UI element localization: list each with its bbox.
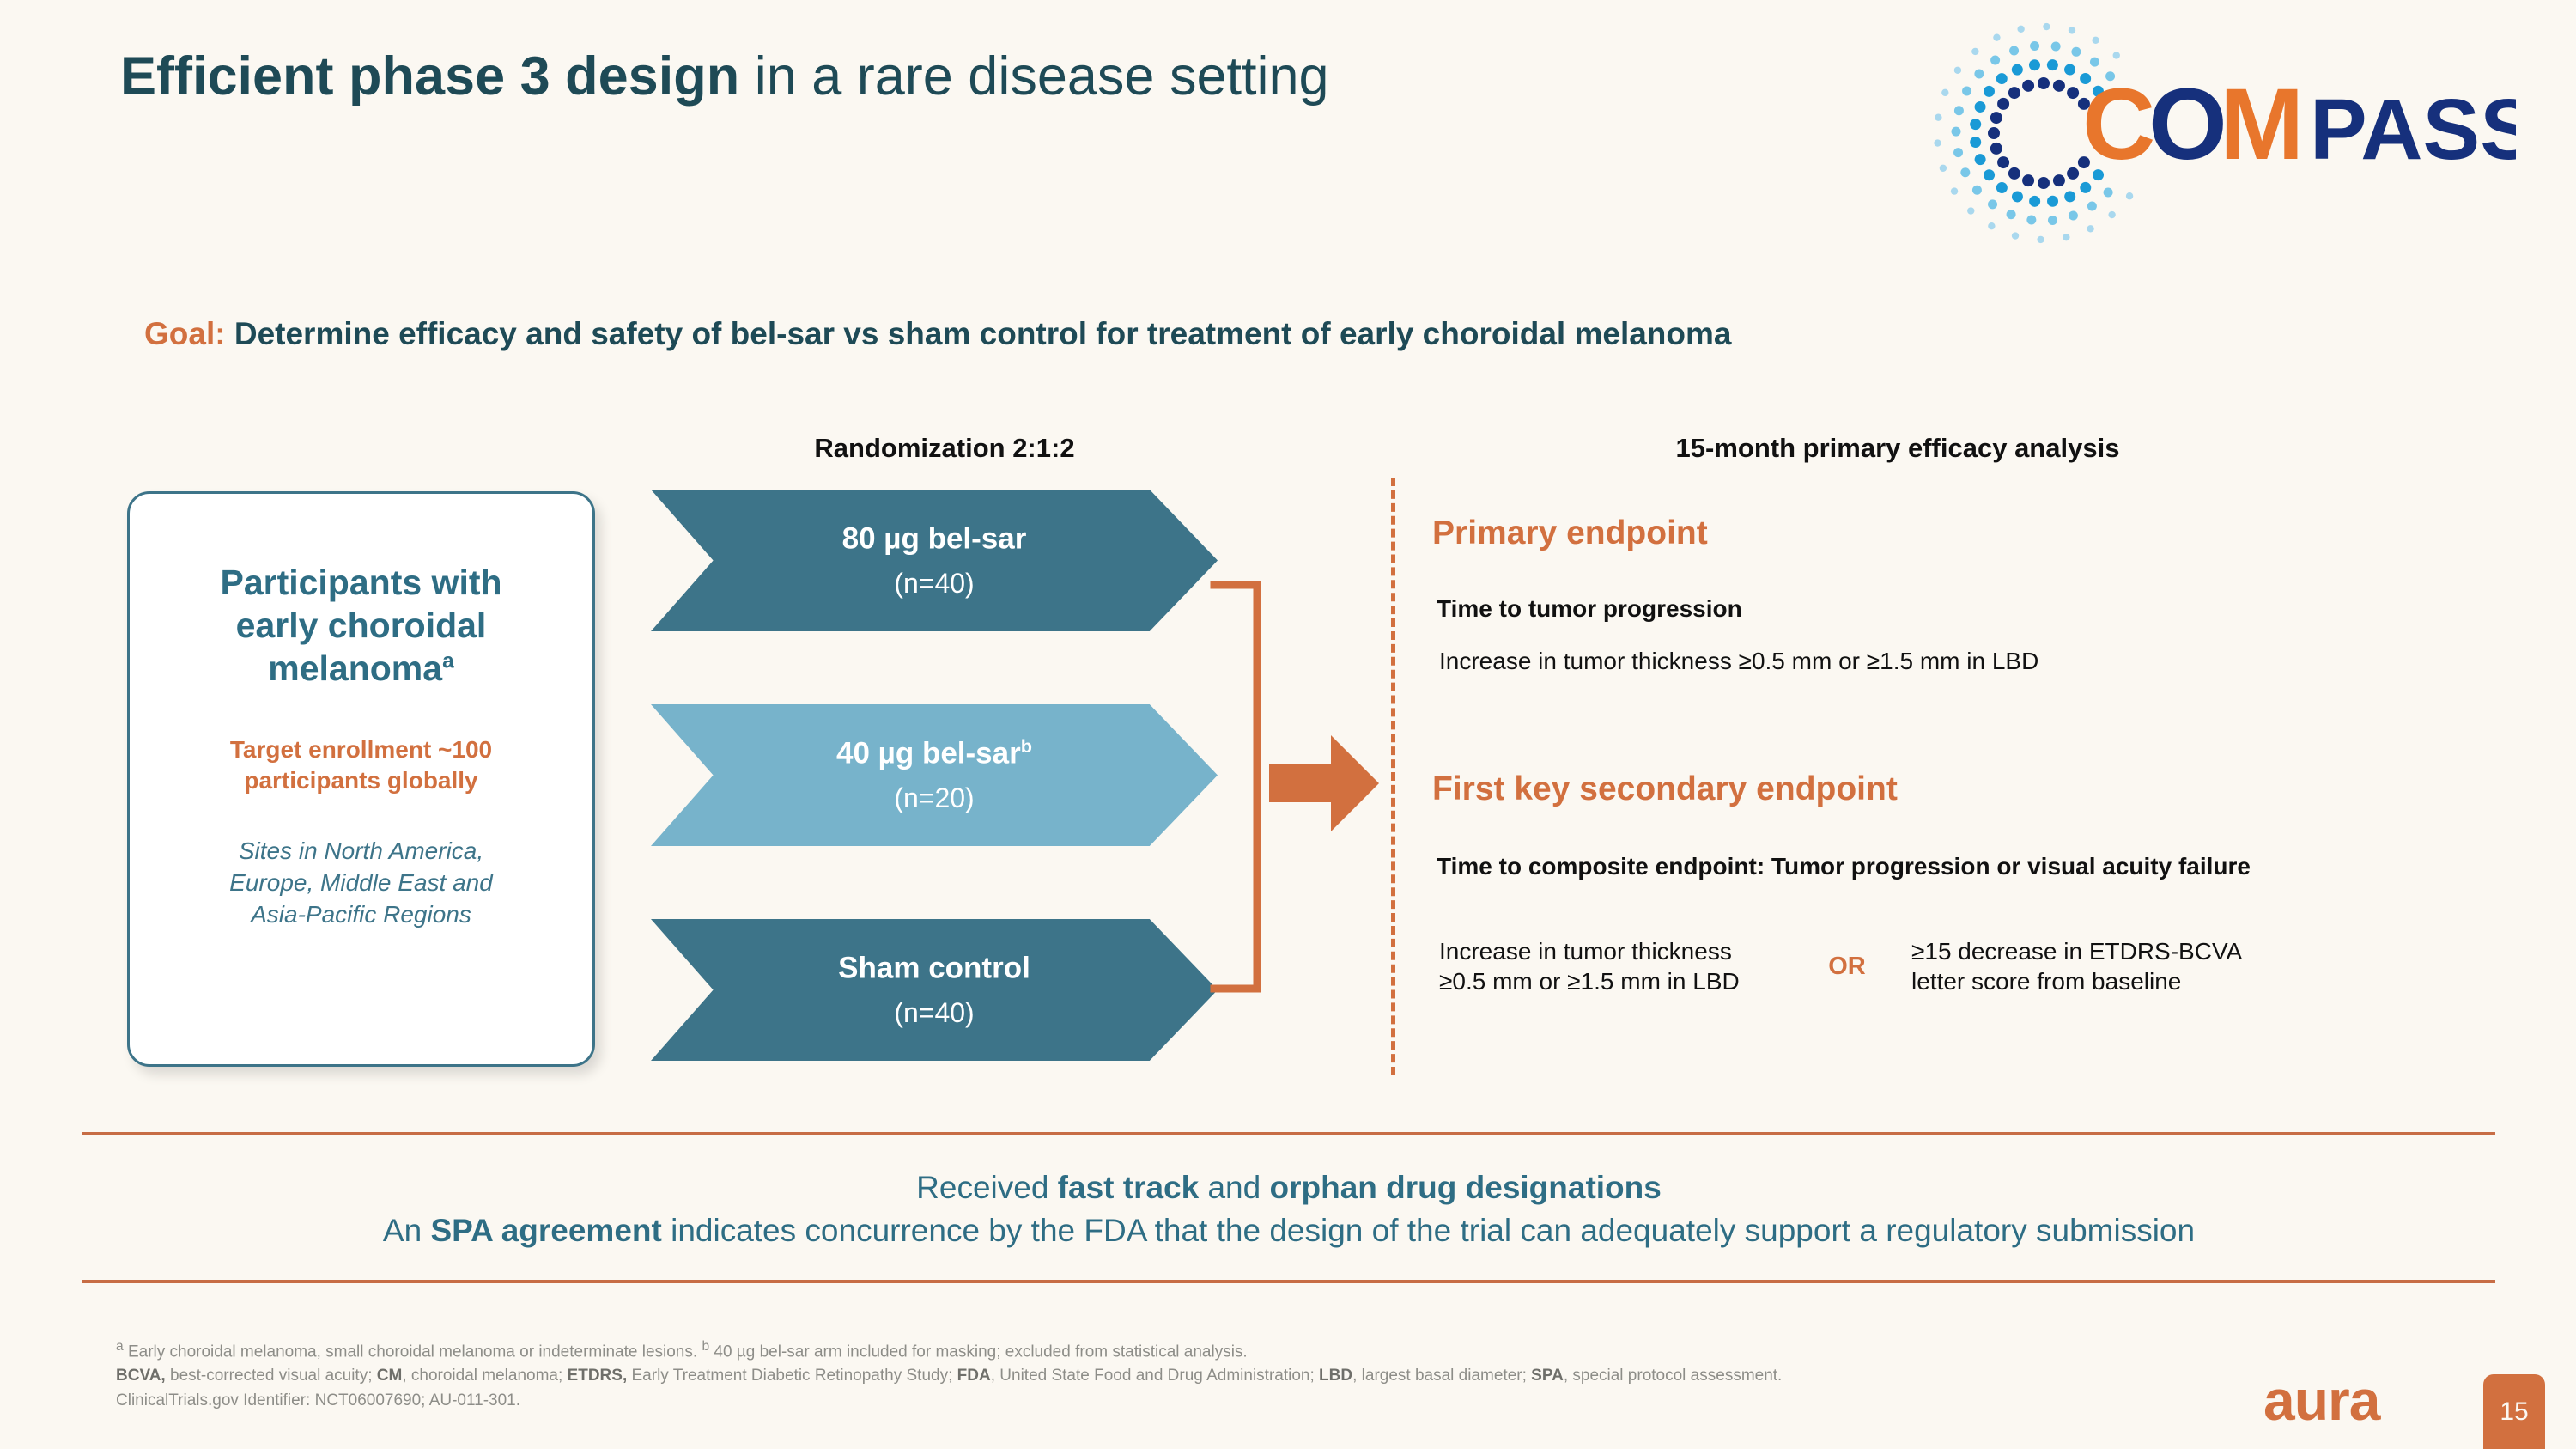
goal-label: Goal: [144,316,226,351]
footnotes: a Early choroidal melanoma, small choroi… [116,1336,2177,1413]
footnote-trial-identifier: ClinicalTrials.gov Identifier: NCT060076… [116,1389,2177,1413]
secondary-endpoint-subtitle: Time to composite endpoint: Tumor progre… [1437,852,2251,881]
footer-l2-b1: SPA agreement [430,1213,661,1248]
svg-text:PASS: PASS [2310,82,2516,178]
svg-text:M: M [2220,68,2304,181]
composite-right-line2: letter score from baseline [1911,968,2181,995]
sites-line3: Asia-Pacific Regions [251,901,471,928]
arm-sample-size: (n=20) [894,782,974,814]
sites-line2: Europe, Middle East and [229,869,493,896]
page-number-badge: 15 [2483,1374,2545,1449]
arm-sample-size: (n=40) [894,997,974,1029]
footnote-line-1: a Early choroidal melanoma, small choroi… [116,1336,2177,1364]
efficacy-analysis-header: 15-month primary efficacy analysis [1425,433,2370,464]
secondary-endpoint-title: First key secondary endpoint [1432,771,1898,808]
composite-left-line1: Increase in tumor thickness [1439,938,1732,965]
participant-title-line3: melanoma [268,648,442,688]
arm-sample-size: (n=40) [894,568,974,600]
section-divider-dashed [1391,478,1395,1075]
arm-label: 80 µg bel-sar [842,521,1027,556]
participant-population-card: Participants with early choroidal melano… [127,491,595,1067]
goal-text: Determine efficacy and safety of bel-sar… [226,316,1732,351]
treatment-arm-chevron: Sham control (n=40) [651,919,1218,1061]
compass-logo: C O M PASS [1915,9,2516,258]
arm-label-text: 40 µg bel-sar [836,737,1021,770]
participant-title-footnote-marker: a [442,649,454,673]
footer-l2-post: indicates concurrence by the FDA that th… [662,1213,2195,1248]
svg-text:C: C [2082,68,2155,181]
treatment-arm-chevron: 40 µg bel-sarb (n=20) [651,704,1218,846]
arm-label-footnote-marker: b [1021,735,1032,757]
composite-left-line2: ≥0.5 mm or ≥1.5 mm in LBD [1439,968,1740,995]
composite-or-connector: OR [1783,953,1911,981]
sites-line1: Sites in North America, [239,837,483,864]
flow-arrow-icon [1269,735,1379,831]
page-title-normal: in a rare disease setting [739,46,1328,107]
footnote-marker-a: a [116,1339,124,1354]
composite-endpoint-criteria: Increase in tumor thickness ≥0.5 mm or ≥… [1439,936,2512,996]
participant-title-line1: Participants with [220,563,501,602]
footnote-marker-b: b [702,1339,709,1354]
composite-criterion-left: Increase in tumor thickness ≥0.5 mm or ≥… [1439,936,1783,996]
composite-criterion-right: ≥15 decrease in ETDRS-BCVA letter score … [1911,936,2392,996]
aura-logo: aura [2263,1372,2379,1428]
treatment-arm-chevron: 80 µg bel-sar (n=40) [651,490,1218,631]
page-title: Efficient phase 3 design in a rare disea… [120,47,1329,107]
footnote-text-a: Early choroidal melanoma, small choroida… [124,1342,702,1361]
participant-title: Participants with early choroidal melano… [220,561,501,690]
primary-endpoint-title: Primary endpoint [1432,515,1708,552]
primary-endpoint-subtitle: Time to tumor progression [1437,594,1742,624]
footer-divider-top [82,1132,2495,1135]
enrollment-line2: participants globally [244,767,477,794]
randomization-header: Randomization 2:1:2 [653,433,1236,464]
footer-line-2: An SPA agreement indicates concurrence b… [82,1209,2495,1252]
study-sites: Sites in North America, Europe, Middle E… [229,836,493,931]
arm-label-text: Sham control [838,952,1030,985]
footnote-abbreviations: BCVA, best-corrected visual acuity; CM, … [116,1364,2177,1388]
footer-line-1: Received fast track and orphan drug desi… [82,1166,2495,1209]
primary-endpoint-detail: Increase in tumor thickness ≥0.5 mm or ≥… [1439,646,2038,676]
footnote-text-b: 40 µg bel-sar arm included for masking; … [709,1342,1248,1361]
goal-statement: Goal: Determine efficacy and safety of b… [144,316,1732,352]
arm-label: Sham control [838,951,1030,985]
footer-l1-b2: orphan drug designations [1270,1170,1662,1205]
enrollment-line1: Target enrollment ~100 [230,736,492,763]
page-title-bold: Efficient phase 3 design [120,46,739,107]
footer-divider-bottom [82,1280,2495,1283]
composite-right-line1: ≥15 decrease in ETDRS-BCVA [1911,938,2242,965]
footer-l1-pre: Received [916,1170,1058,1205]
participant-title-line2: early choroidal [236,606,487,645]
arm-label-text: 80 µg bel-sar [842,522,1027,556]
footer-l2-pre: An [383,1213,431,1248]
footer-designations: Received fast track and orphan drug desi… [82,1166,2495,1251]
footer-l1-b1: fast track [1058,1170,1200,1205]
svg-text:O: O [2148,68,2227,181]
footer-l1-mid: and [1199,1170,1269,1205]
arm-label: 40 µg bel-sarb [836,736,1032,770]
enrollment-target: Target enrollment ~100 participants glob… [230,734,492,796]
